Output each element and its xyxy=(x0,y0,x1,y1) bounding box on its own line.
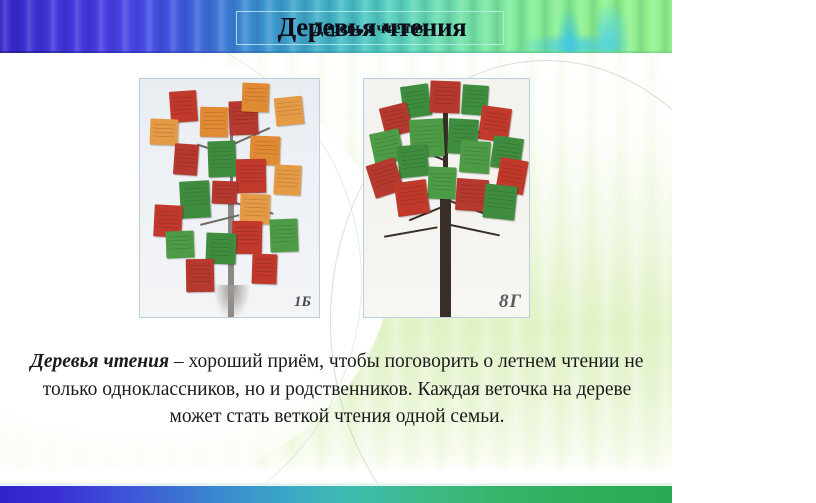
footer-gradient-band xyxy=(0,486,672,503)
paper-book xyxy=(427,167,456,200)
paper-book xyxy=(207,141,236,178)
paper-book xyxy=(150,119,179,146)
paper-book xyxy=(186,259,215,292)
paper-book xyxy=(179,180,211,219)
paper-book xyxy=(459,140,491,174)
body-lead-term: Деревья чтения xyxy=(31,351,169,372)
paper-book xyxy=(394,179,430,217)
tree-trunk-right xyxy=(440,199,451,317)
paper-book xyxy=(273,164,302,195)
slide-canvas: Деревья чтения Деревья чтения 1Б 8Г Дере… xyxy=(0,0,672,503)
paper-book xyxy=(429,80,460,113)
body-paragraph: Деревья чтения – хороший приём, чтобы по… xyxy=(18,348,656,431)
reading-tree-photo-right[interactable]: 8Г xyxy=(363,78,530,318)
paper-book xyxy=(251,254,277,285)
paper-book xyxy=(396,144,429,179)
paper-book xyxy=(200,107,229,137)
paper-book xyxy=(482,183,517,220)
header-bottom-rule xyxy=(0,51,672,53)
paper-book xyxy=(173,143,199,176)
paper-book xyxy=(212,181,238,205)
paper-book xyxy=(239,193,270,224)
photo-right-class-mark: 8Г xyxy=(499,291,522,313)
slide-title-small: Деревья чтения xyxy=(236,20,504,38)
paper-book xyxy=(269,219,298,253)
right-blank-margin xyxy=(672,0,816,503)
paper-book xyxy=(242,83,270,113)
paper-book xyxy=(274,96,305,127)
tree-root xyxy=(214,285,250,318)
reading-tree-photo-left[interactable]: 1Б xyxy=(139,78,320,318)
paper-book xyxy=(166,231,195,259)
paper-book xyxy=(236,159,267,194)
paper-book xyxy=(169,90,198,123)
photo-left-class-mark: 1Б xyxy=(294,294,311,311)
